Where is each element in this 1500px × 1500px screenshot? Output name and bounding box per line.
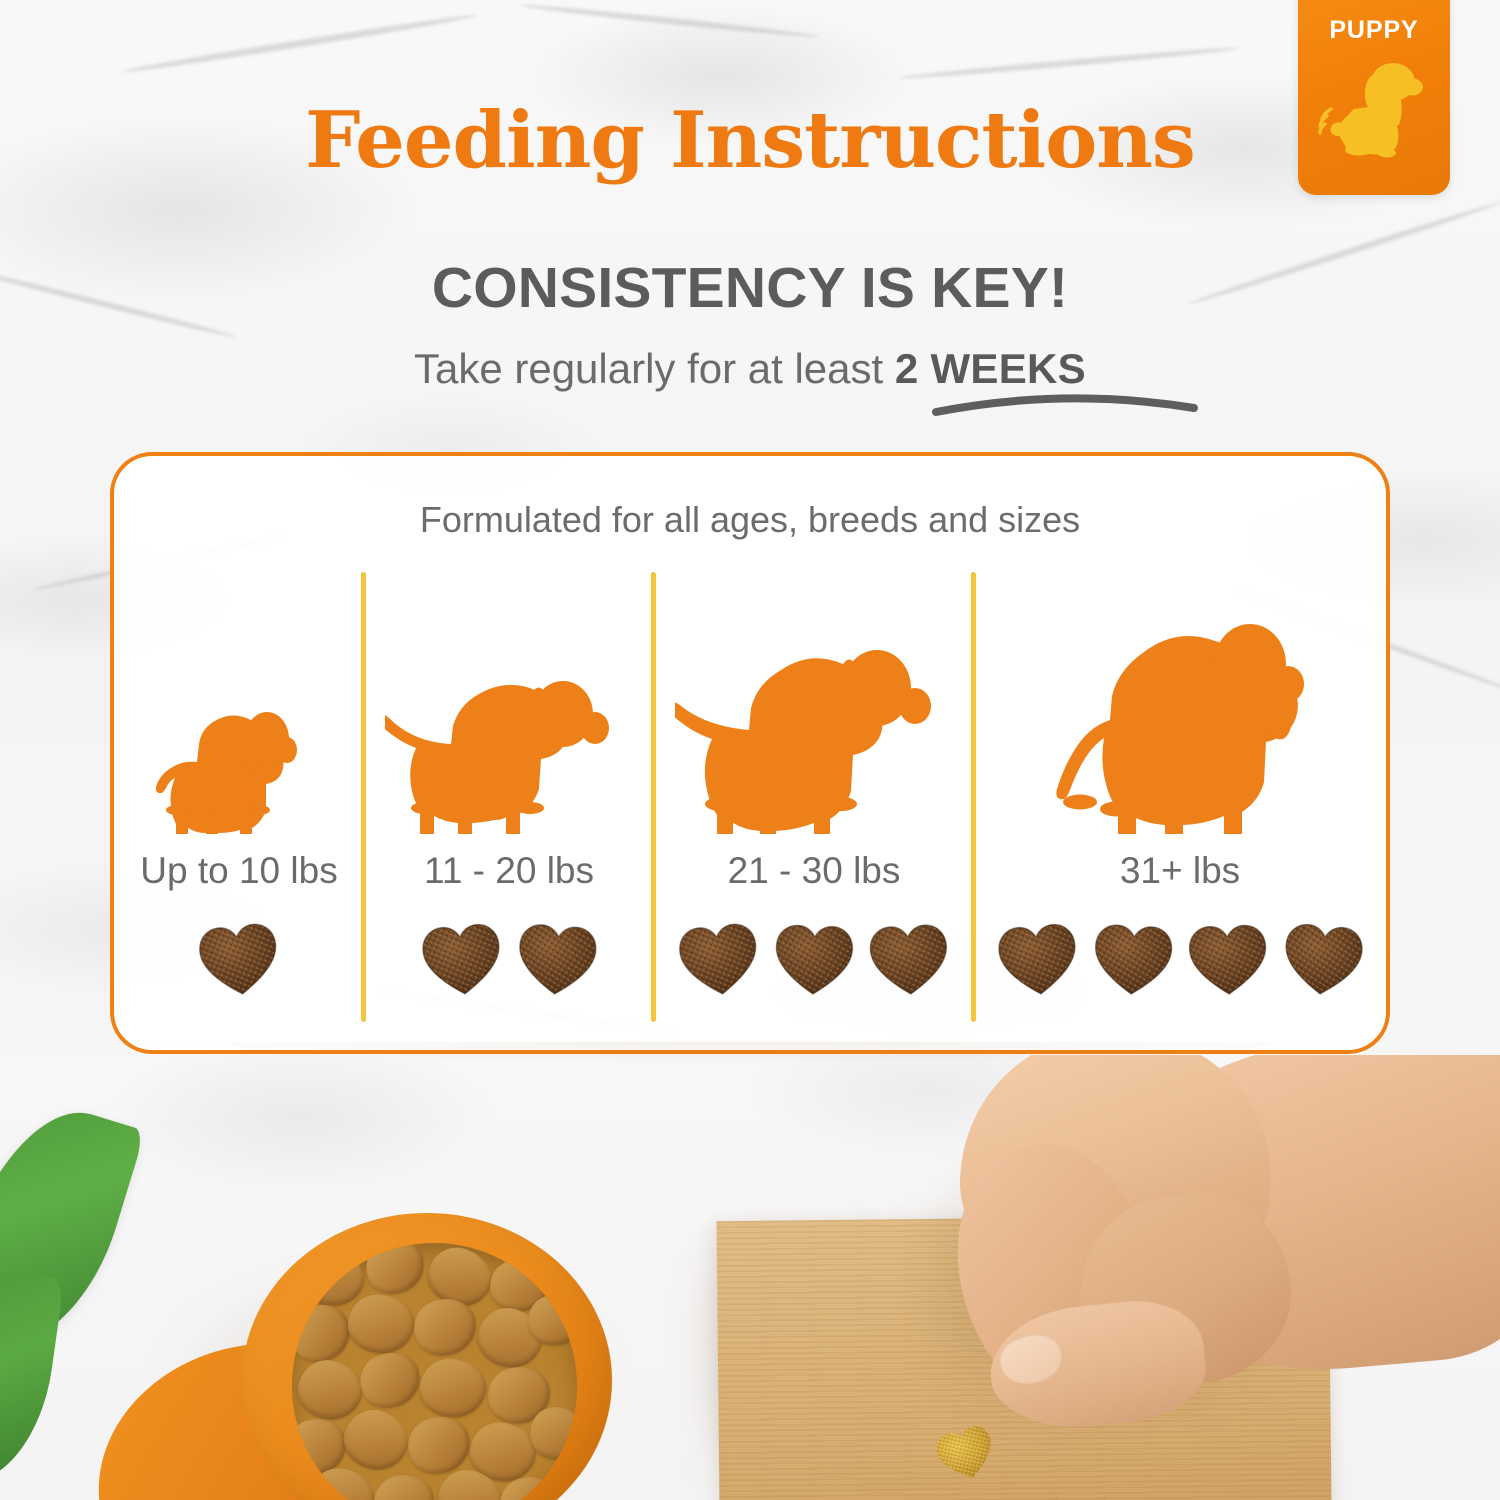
frequency-note: Take regularly for at least 2 WEEKS: [0, 345, 1500, 393]
weight-label: 21 - 30 lbs: [728, 836, 901, 906]
weight-label: 31+ lbs: [1120, 836, 1240, 906]
kibble-treat-icon: [1280, 920, 1366, 1000]
kibble-treat-icon: [866, 920, 952, 1000]
kibble-treat-icon: [995, 920, 1081, 1000]
weight-label: 11 - 20 lbs: [424, 836, 594, 906]
column-divider: [651, 572, 656, 1022]
puppy-badge-label: PUPPY: [1329, 16, 1418, 45]
kibble-treat-icon: [196, 920, 282, 1000]
frequency-note-prefix: Take regularly for at least: [414, 345, 895, 392]
puppy-badge: PUPPY: [1298, 0, 1450, 195]
kibble-treat-icon: [419, 920, 505, 1000]
page-title: Feeding Instructions: [0, 95, 1500, 186]
kibble-treat-icon: [1185, 920, 1271, 1000]
treat-count-group: [196, 906, 282, 1014]
treat-count-group: [676, 906, 952, 1014]
frequency-note-emphasis: 2 WEEKS: [895, 345, 1086, 392]
dog-silhouette-slot: [364, 564, 654, 836]
kibble-treat-icon: [771, 920, 857, 1000]
hand-drawn-underline-icon: [930, 388, 1200, 420]
weight-label: Up to 10 lbs: [140, 836, 337, 906]
feeding-columns: Up to 10 lbs: [114, 564, 1386, 1050]
puppy-silhouette-icon: [139, 684, 339, 834]
held-kibble-treat-icon: [935, 1425, 997, 1483]
dog-silhouette-icon: [385, 656, 633, 834]
column-divider: [361, 572, 366, 1022]
dog-silhouette-icon: [675, 626, 953, 834]
kibble-treat-icon: [1090, 920, 1176, 1000]
product-photo: [0, 1055, 1500, 1500]
dog-silhouette-icon: [1030, 606, 1330, 834]
card-header: Formulated for all ages, breeds and size…: [114, 499, 1386, 541]
feeding-chart-card: Formulated for all ages, breeds and size…: [110, 452, 1390, 1054]
kibble-treat-icon: [514, 920, 600, 1000]
feeding-column-31-plus-lbs[interactable]: 31+ lbs: [974, 564, 1386, 1050]
bowl-kibble-fill: [292, 1243, 577, 1500]
subtitle: CONSISTENCY IS KEY!: [0, 255, 1500, 321]
dog-silhouette-slot: [114, 564, 364, 836]
feeding-column-21-30-lbs[interactable]: 21 - 30 lbs: [654, 564, 974, 1050]
column-divider: [971, 572, 976, 1022]
feeding-column-11-20-lbs[interactable]: 11 - 20 lbs: [364, 564, 654, 1050]
treat-count-group: [995, 906, 1366, 1014]
treat-count-group: [419, 906, 600, 1014]
dog-silhouette-slot: [654, 564, 974, 836]
kibble-treat-icon: [676, 920, 762, 1000]
feeding-column-up-to-10-lbs[interactable]: Up to 10 lbs: [114, 564, 364, 1050]
puppy-dog-icon: [1318, 49, 1430, 166]
dog-silhouette-slot: [974, 564, 1386, 836]
